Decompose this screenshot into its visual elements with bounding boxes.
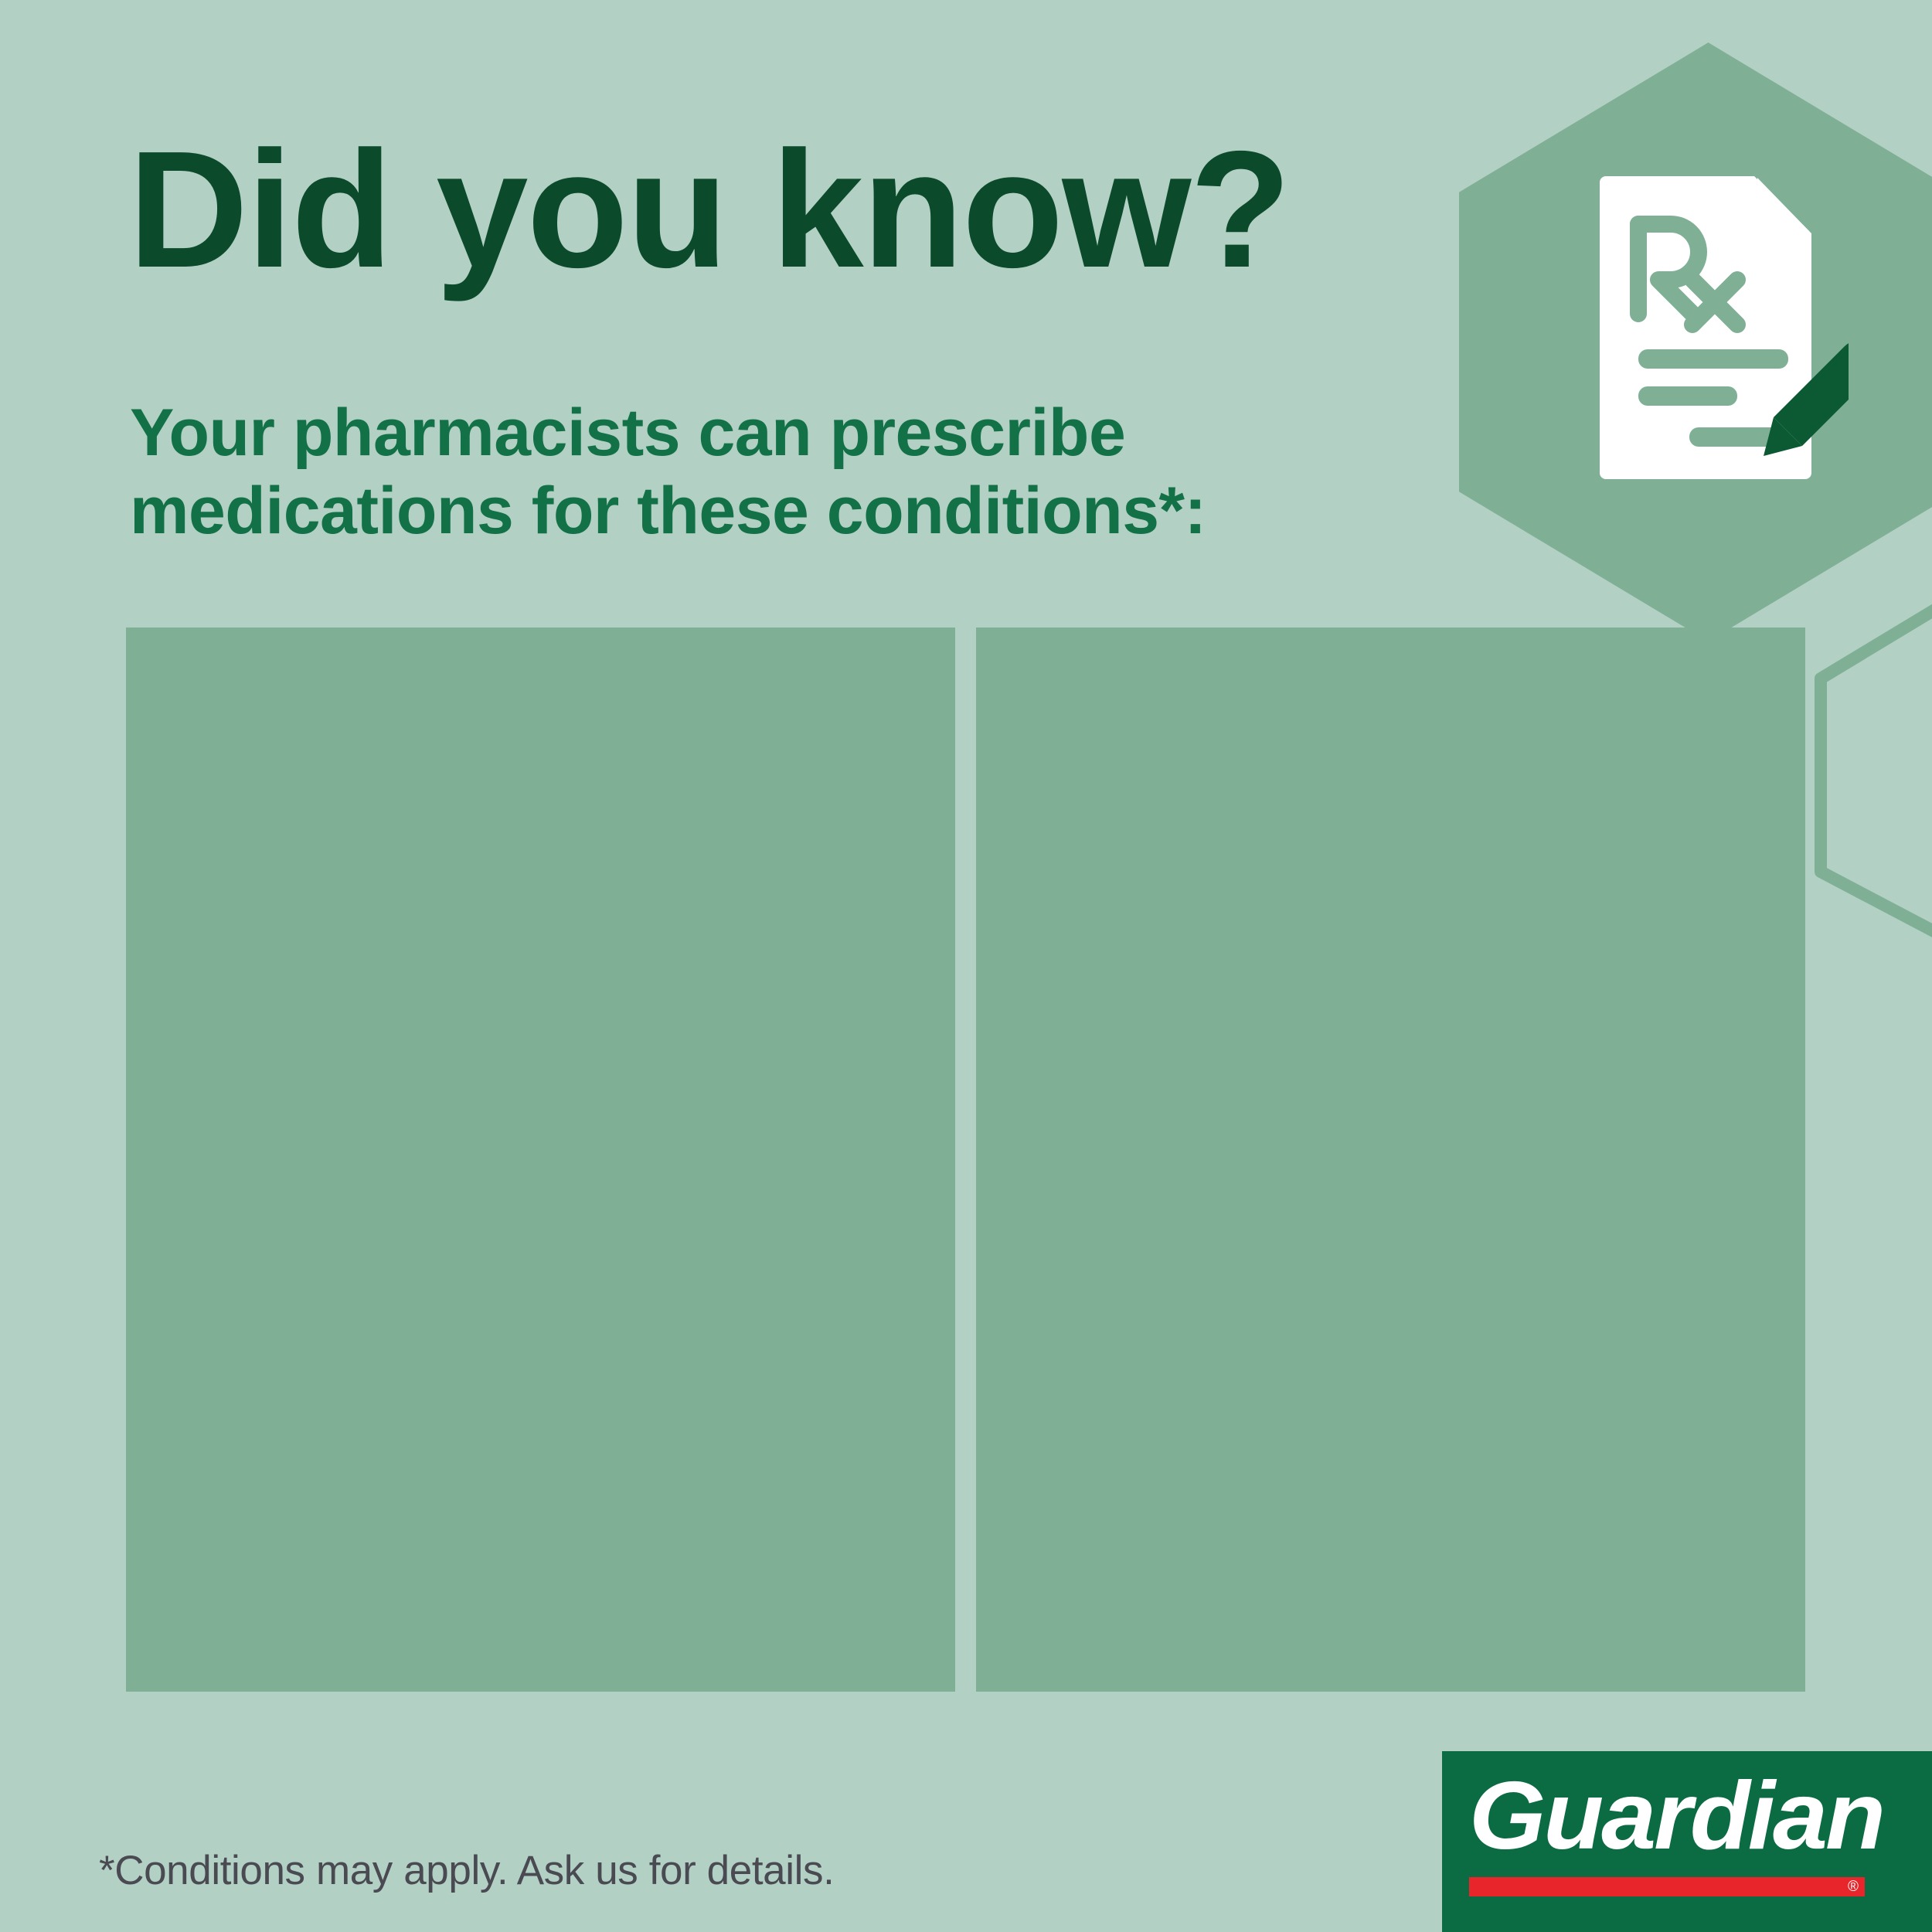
guardian-wordmark: Guardian xyxy=(1469,1768,1876,1864)
registered-trademark-icon: ® xyxy=(1848,1878,1859,1896)
page-subtitle: Your pharmacists can prescribe medicatio… xyxy=(130,394,1206,551)
poster-canvas: Did you know? Your pharmacists can presc… xyxy=(0,0,1932,1932)
page-title: Did you know? xyxy=(128,126,1290,292)
guardian-red-rule: ® xyxy=(1469,1877,1865,1896)
footnote-disclaimer: *Conditions may apply. Ask us for detail… xyxy=(99,1849,834,1893)
left-content-panel xyxy=(126,628,955,1692)
guardian-logo: Guardian ® xyxy=(1442,1751,1932,1932)
prescription-document-icon xyxy=(1594,170,1849,479)
right-content-panel xyxy=(976,628,1805,1692)
hexagon-outline xyxy=(1815,576,1932,962)
